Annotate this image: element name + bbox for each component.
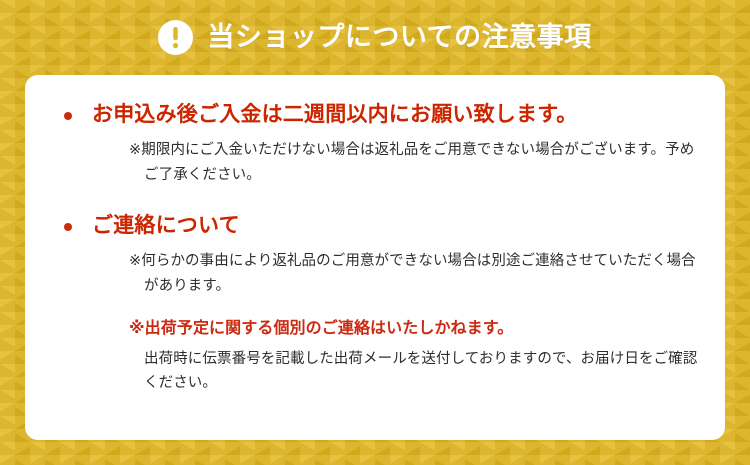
notice-item-contact: ご連絡について ※何らかの事由により返礼品のご用意ができない場合は別途ご連絡させ…	[47, 212, 703, 396]
notice-item-payment: お申込み後ご入金は二週間以内にお願い致します。 ※期限内にご入金いただけない場合…	[47, 101, 703, 188]
notice-panel: 当ショップについての注意事項 お申込み後ご入金は二週間以内にお願い致します。 ※…	[0, 0, 750, 465]
notice-heading-row: お申込み後ご入金は二週間以内にお願い致します。	[47, 101, 703, 129]
notice-note: ※何らかの事由により返礼品のご用意ができない場合は別途ご連絡させていただく場合が…	[129, 249, 703, 299]
notice-note: ※期限内にご入金いただけない場合は返礼品をご用意できない場合がございます。予めご…	[129, 138, 703, 188]
notice-heading: お申込み後ご入金は二週間以内にお願い致します。	[92, 101, 578, 129]
notice-card: お申込み後ご入金は二週間以内にお願い致します。 ※期限内にご入金いただけない場合…	[25, 75, 725, 440]
bullet-dot-icon	[64, 112, 72, 120]
bullet-dot-icon	[64, 223, 72, 231]
panel-header: 当ショップについての注意事項	[0, 0, 750, 75]
notice-list: お申込み後ご入金は二週間以内にお願い致します。 ※期限内にご入金いただけない場合…	[47, 101, 703, 396]
exclamation-circle-icon	[158, 20, 193, 55]
notice-heading: ご連絡について	[92, 212, 240, 240]
notice-note-detail: 出荷時に伝票番号を記載した出荷メールを送付しておりますので、お届け日をご確認くだ…	[144, 347, 703, 397]
notice-heading-row: ご連絡について	[47, 212, 703, 240]
notice-note-emphasis: ※出荷予定に関する個別のご連絡はいたしかねます。	[129, 315, 703, 343]
page-title: 当ショップについての注意事項	[207, 24, 591, 51]
